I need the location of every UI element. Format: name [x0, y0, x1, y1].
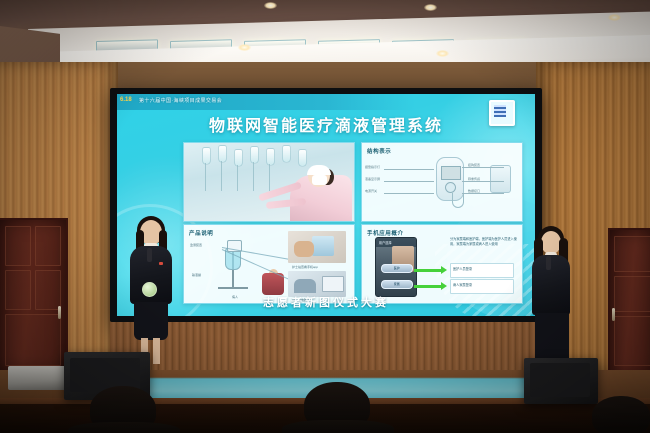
tablet-icon: [312, 236, 334, 256]
iv-tube: [269, 164, 270, 191]
door-panel: [614, 236, 650, 272]
phone-button-family[interactable]: 家属: [381, 280, 413, 289]
iv-bag: [202, 147, 211, 165]
iv-tube: [253, 162, 254, 191]
microphone-icon: [546, 256, 551, 270]
slide-title: 物联网智能医疗滴液管理系统: [117, 112, 535, 136]
iv-stand-base: [218, 287, 248, 289]
iv-bag: [234, 149, 243, 167]
device-hook-icon: [452, 193, 464, 208]
event-banner-label: 第十六届中国·海峡项目成果交易会: [139, 97, 222, 104]
speaker-grille: [530, 363, 590, 397]
callout-label: 输液袋: [192, 273, 201, 277]
iv-bag: [282, 145, 291, 163]
panel-structure[interactable]: 结构表示 报警指示灯 液晶显示屏 电源开关 挂钩装置 称重传感 数据接口: [361, 142, 523, 222]
callout-line: [384, 169, 434, 170]
audience-shoulders: [282, 420, 394, 433]
downlight: [264, 2, 277, 9]
iv-bag: [218, 145, 227, 163]
phone-button-label: 医护: [382, 266, 412, 270]
slide-event-banner: 6.18 第十六届中国·海峡项目成果交易会: [117, 94, 415, 110]
callout-line: [384, 181, 434, 182]
device-button-icon: [445, 182, 456, 193]
callout-label: 称重传感: [468, 177, 480, 181]
panel-structure-label: 结构表示: [367, 147, 391, 155]
callout-label: 监测装置: [190, 243, 202, 247]
presenter-jacket: [532, 255, 570, 315]
presenter-skirt: [134, 302, 168, 340]
hand-icon: [294, 241, 314, 257]
lapel-pin-icon: [159, 262, 163, 265]
audience-shoulders: [68, 422, 180, 433]
phone-button-medical[interactable]: 医护: [381, 264, 413, 273]
flow-arrow-head-icon: [441, 282, 447, 290]
callout-label: 液晶显示屏: [365, 177, 380, 181]
phone-mockup[interactable]: 用户选择 医护 家属: [375, 237, 417, 297]
iv-tube: [205, 163, 206, 191]
downlight: [238, 44, 251, 51]
callout-label: 电源开关: [365, 189, 377, 193]
door-panel: [5, 270, 31, 310]
panel-iv-photo[interactable]: [183, 142, 355, 222]
callout-line: [384, 193, 434, 194]
presenter-right: [520, 226, 582, 366]
door-panel: [614, 276, 650, 312]
door-panel: [35, 270, 61, 310]
audience-head: [592, 396, 650, 433]
stage-speaker-right: [524, 358, 598, 404]
phone-button-label: 家属: [382, 282, 412, 286]
callout-line: [462, 167, 504, 168]
presenter-badge: [142, 282, 157, 297]
door-panel: [35, 226, 61, 266]
mini-photo-app: [288, 231, 346, 263]
app-description-note: 分为家属端和医护端，医护端为医护人员进入使用，家属端为家属或病人进入使用: [450, 237, 518, 246]
app-result-label: 医护人员登录: [453, 266, 472, 271]
iv-tube: [237, 165, 238, 191]
presenter-leg: [153, 338, 160, 364]
iv-tube: [221, 161, 222, 191]
callout-label: 数据接口: [468, 189, 480, 193]
callout-label: 挂钩装置: [468, 163, 480, 167]
app-result-medical: 医护人员登录: [450, 263, 514, 278]
flow-arrow: [414, 285, 442, 288]
flow-arrow-head-icon: [441, 266, 447, 274]
downlight: [436, 50, 449, 57]
app-result-family: 病人家属登录: [450, 279, 514, 294]
microphone-icon: [147, 248, 152, 262]
iv-bag: [266, 148, 275, 166]
app-result-label: 病人家属登录: [453, 282, 472, 287]
callout-line: [462, 193, 504, 194]
panel-product-label: 产品说明: [189, 229, 213, 237]
door-handle-icon[interactable]: [612, 308, 615, 321]
mini-photo-caption: 护士站查看手机app: [292, 265, 318, 269]
door-handle-icon[interactable]: [58, 306, 61, 319]
panel-app-label: 手机应用概介: [367, 229, 404, 237]
callout-label: 报警指示灯: [365, 165, 380, 169]
downlight: [424, 4, 437, 11]
device-side-view: [490, 165, 511, 193]
phone-header-label: 用户选择: [379, 240, 392, 245]
panel-product-desc[interactable]: 产品说明 监测装置 输液袋 病人 护士站查看手机app 护士站电脑端: [183, 224, 355, 304]
callout-line: [462, 181, 504, 182]
presenter-left: [118, 216, 184, 364]
door-right[interactable]: [608, 228, 650, 380]
nurse-face-mask: [312, 175, 327, 185]
door-left[interactable]: [0, 218, 68, 374]
conference-presentation-scene: 6.18 第十六届中国·海峡项目成果交易会 物联网智能医疗滴液管理系统: [0, 0, 650, 433]
door-panel: [5, 314, 61, 366]
person-icon: [294, 279, 316, 293]
door-panel: [614, 316, 650, 366]
presenter-head: [541, 231, 561, 254]
iv-bag: [298, 149, 307, 167]
nurse-cap: [307, 165, 331, 175]
monitor-icon: [322, 276, 344, 292]
device-display-icon: [441, 166, 461, 180]
iv-photograph: [184, 143, 354, 221]
event-mark-label: 6.18: [120, 97, 132, 103]
flow-arrow: [414, 269, 442, 272]
downlight: [608, 14, 621, 21]
iv-bag: [250, 146, 259, 164]
panel-mobile-app[interactable]: 手机应用概介 用户选择 医护 家属 医护人员登录: [361, 224, 523, 304]
door-panel: [5, 226, 31, 266]
